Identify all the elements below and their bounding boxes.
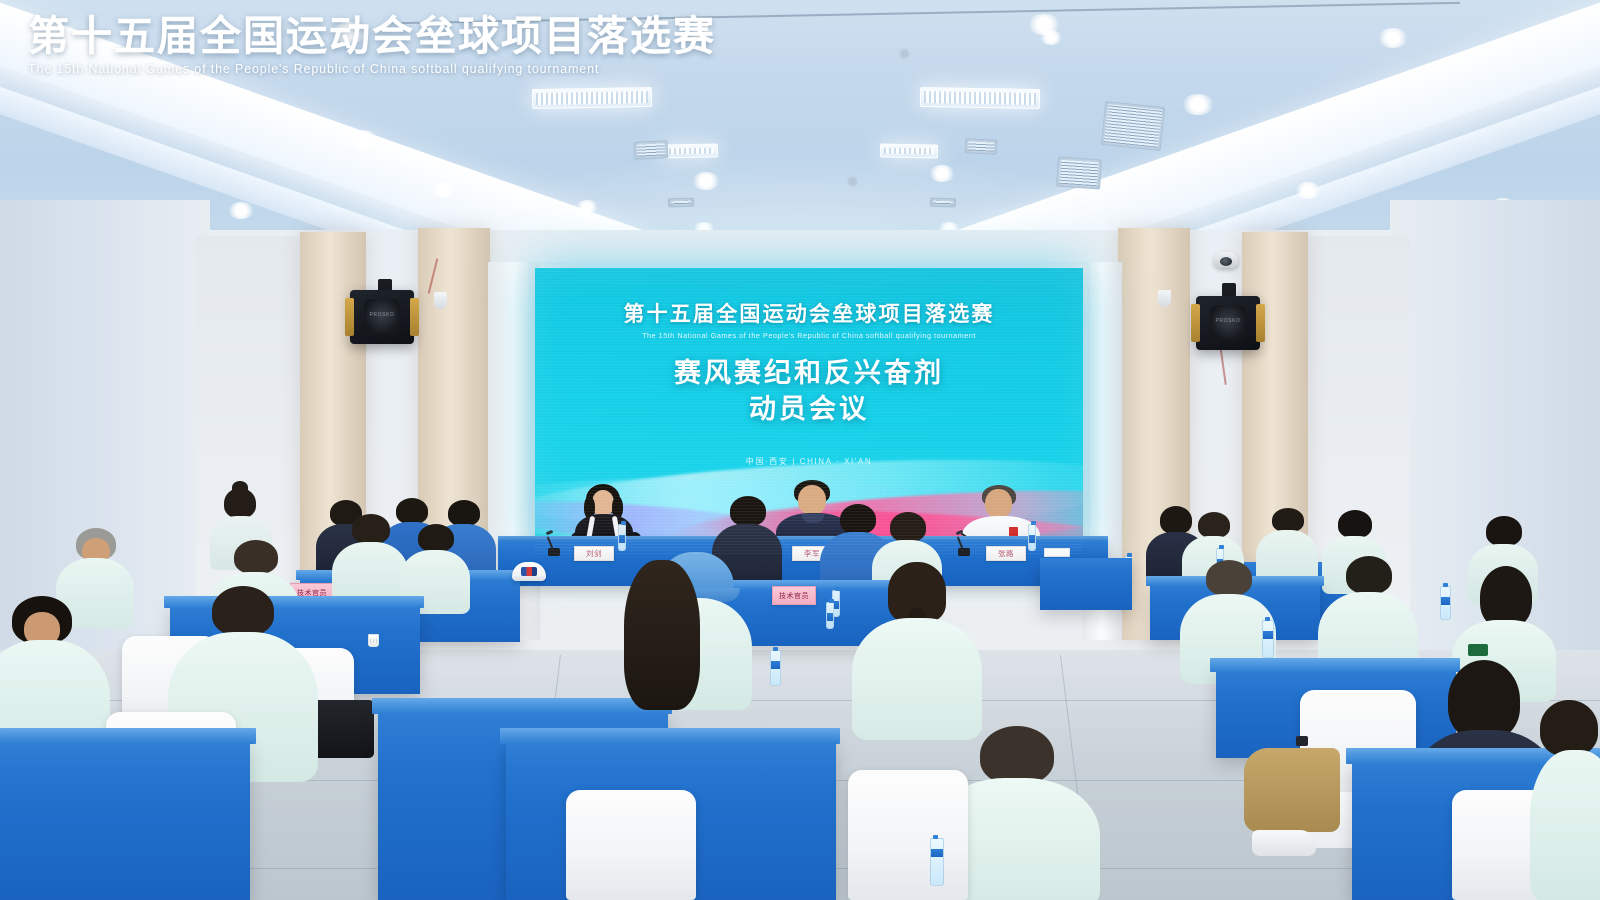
cap-on-table-left: [512, 562, 546, 581]
ceiling-panel-light-1: [532, 87, 652, 109]
bottle-cap: [835, 587, 840, 591]
ceiling-vent-6: [930, 198, 956, 208]
hair: [1346, 556, 1392, 594]
attendee-mid-l3: [332, 514, 408, 606]
led-subject-line2: 动员会议: [535, 392, 1083, 428]
microphone-right[interactable]: [958, 548, 970, 556]
ceiling-panel-light-4: [880, 143, 938, 158]
water-bottle-head-2[interactable]: [1028, 524, 1036, 551]
downlight-7: [348, 130, 378, 150]
led-header: 第十五届全国运动会垒球项目落选赛 The 15th National Games…: [535, 298, 1083, 340]
speaker-brand-label: PROSKO: [1196, 318, 1260, 324]
downlight-3: [1378, 28, 1408, 48]
hair: [418, 524, 454, 552]
water-bottle-head-1[interactable]: [618, 524, 626, 551]
led-subject-line1: 赛风赛纪和反兴奋剂: [535, 356, 1083, 392]
head-table-nameplate-left: 刘剑: [574, 546, 614, 561]
attendee-center-mid-2: [852, 562, 982, 732]
downlight-8: [431, 182, 455, 198]
wall-speaker-left: PROSKO: [350, 290, 414, 344]
wall-speaker-right: PROSKO: [1196, 296, 1260, 350]
dome-security-camera: [1214, 252, 1238, 268]
downlight-5: [1040, 30, 1062, 45]
downlight-14: [228, 202, 254, 219]
bottle-cap: [1219, 545, 1224, 549]
led-subject: 赛风赛纪和反兴奋剂 动员会议: [535, 356, 1083, 427]
hair: [1206, 560, 1252, 596]
banner-title-en: The 15th National Games of the People's …: [28, 62, 716, 76]
bottle-cap: [1127, 553, 1132, 557]
hair: [1540, 700, 1598, 756]
bottle-cap: [1265, 617, 1270, 621]
downlight-6: [692, 172, 720, 190]
head-table-nameplate-right: 张路: [986, 546, 1026, 561]
sneaker: [1252, 830, 1316, 856]
audience-table-l-front-top: [0, 728, 256, 744]
hair: [980, 726, 1054, 784]
side-table-left-front: [1040, 558, 1132, 610]
hair-long: [624, 560, 700, 710]
bottle-cap: [1443, 583, 1448, 587]
attendee-front-r-khaki: [1244, 690, 1340, 865]
cap-logo: [521, 567, 537, 576]
hair: [1198, 512, 1230, 538]
torso: [852, 618, 982, 740]
water-bottle-r-mid[interactable]: [1262, 620, 1274, 658]
microphone-left[interactable]: [548, 548, 560, 556]
tent-card-technical-officials-2: 技术官员: [772, 586, 816, 605]
head: [592, 490, 614, 516]
khaki-trousers: [1244, 748, 1340, 832]
hair-long: [1448, 660, 1520, 740]
head: [985, 489, 1012, 518]
ceiling-vent-4: [965, 138, 998, 155]
wall-switch-plate-right[interactable]: [1158, 290, 1171, 307]
led-header-en: The 15th National Games of the People's …: [535, 331, 1083, 340]
hair: [448, 500, 480, 526]
audience-table-center-front-top: [500, 728, 840, 744]
sprinkler-head-1: [901, 50, 908, 57]
speaker-mount-right: [1222, 283, 1236, 297]
audience-table-l-front: [0, 740, 250, 900]
ceiling-panel-light-2: [920, 87, 1040, 109]
downlight-10: [929, 165, 955, 182]
hair: [1486, 516, 1522, 546]
bottle-cap: [829, 599, 834, 603]
banner-overlay: 第十五届全国运动会垒球项目落选赛 The 15th National Games…: [28, 16, 716, 76]
ceiling-panel-light-3: [660, 143, 718, 158]
sprinkler-head-2: [849, 178, 856, 185]
speaker-brand-label: PROSKO: [350, 312, 414, 318]
attendee-front-r2: [1530, 700, 1600, 900]
hair: [212, 586, 274, 636]
notepad-head-table: [1044, 548, 1070, 557]
downlight-12: [1295, 182, 1321, 199]
ceiling-vent-3: [634, 140, 669, 160]
conference-room-photo: PROSKO PROSKO 第十五届全国运动会垒球项目落选赛 The 15th …: [0, 0, 1600, 900]
hair: [840, 504, 876, 534]
water-bottle-center-front[interactable]: [930, 838, 944, 886]
hair: [890, 512, 926, 542]
torso: [1530, 750, 1600, 900]
downlight-9: [576, 200, 598, 214]
bottle-cap: [773, 647, 778, 651]
hair: [1272, 508, 1304, 532]
water-bottle-center-mid-2[interactable]: [826, 602, 834, 629]
ceiling-vent-2: [1056, 157, 1102, 190]
cap-brim: [512, 576, 546, 581]
bottle-cap: [621, 521, 626, 525]
bottle-cap: [933, 835, 938, 839]
attendee-center-mid-long-hair: [610, 560, 714, 740]
chair-center-front-2[interactable]: [848, 770, 968, 900]
watch: [1296, 736, 1308, 746]
phone-on-table-right[interactable]: [1468, 644, 1488, 656]
led-header-cn: 第十五届全国运动会垒球项目落选赛: [535, 298, 1083, 328]
hair-long: [1480, 566, 1532, 628]
paper-cup-l-mid[interactable]: [368, 634, 379, 647]
hair: [1338, 510, 1372, 538]
ceiling-vent-1: [1101, 101, 1165, 151]
hair: [730, 496, 766, 526]
ceiling-vent-5: [668, 198, 694, 208]
hair: [352, 514, 390, 544]
hair: [234, 540, 278, 574]
chair-center-front[interactable]: [566, 790, 696, 900]
banner-title-cn: 第十五届全国运动会垒球项目落选赛: [28, 16, 716, 57]
downlight-11: [1182, 94, 1214, 115]
water-bottle-center-mid[interactable]: [770, 650, 781, 686]
bottle-cap: [1031, 521, 1036, 525]
wall-switch-plate-left[interactable]: [434, 292, 447, 309]
water-bottle-r-back-2[interactable]: [1440, 586, 1451, 620]
hair-bun: [232, 481, 248, 494]
